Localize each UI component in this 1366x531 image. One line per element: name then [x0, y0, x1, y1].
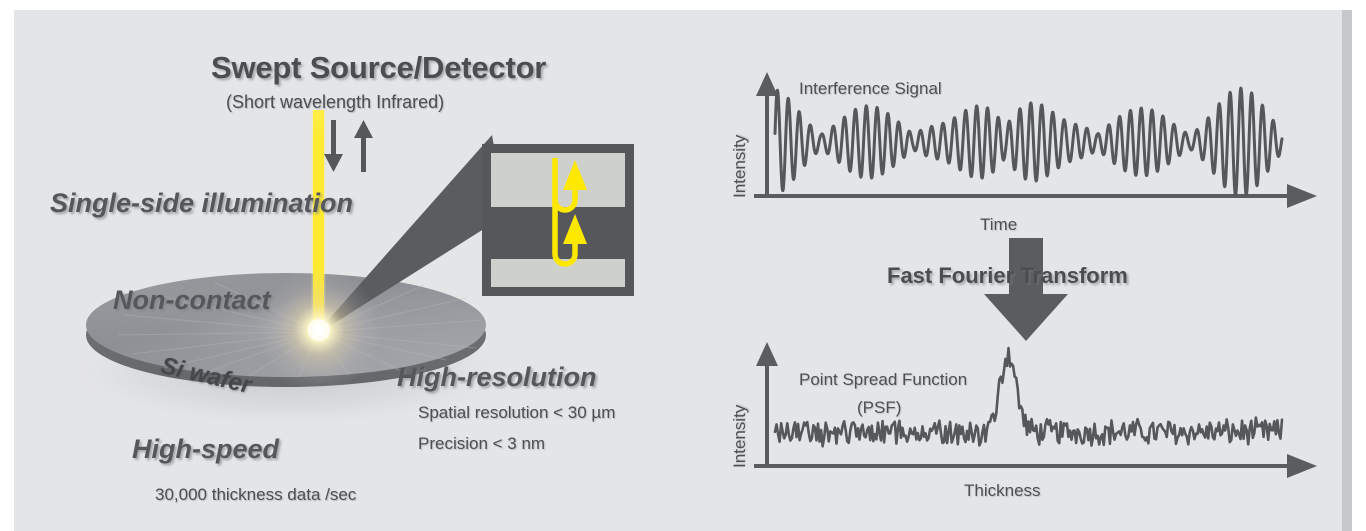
interference-waveform — [775, 88, 1282, 195]
fft-arrow — [976, 238, 1076, 342]
feature-title-3: High-speed — [132, 434, 279, 465]
reflected-beam-arrow — [354, 120, 373, 172]
feature-title-1: Non-contact — [113, 285, 271, 316]
inset-middle-layer — [491, 207, 625, 259]
interference-x-label: Time — [980, 215, 1017, 235]
interference-signal-plot — [749, 70, 1329, 215]
diagram-panel: Swept Source/Detector (Short wavelength … — [14, 10, 1352, 531]
feature-title-2: High-resolution — [397, 362, 596, 393]
psf-waveform — [775, 348, 1282, 446]
psf-plot — [749, 340, 1329, 485]
psf-y-label: Intensity — [730, 405, 750, 468]
feature-detail-2-0: Spatial resolution < 30 µm — [418, 403, 615, 423]
layer-cross-section-inset — [482, 144, 634, 296]
feature-detail-3-0: 30,000 thickness data /sec — [155, 485, 356, 505]
incident-beam-arrow — [324, 120, 343, 172]
source-title: Swept Source/Detector — [211, 50, 546, 86]
interference-y-label: Intensity — [730, 135, 750, 198]
fft-label: Fast Fourier Transform — [887, 263, 1128, 289]
feature-detail-2-1: Precision < 3 nm — [418, 434, 545, 454]
beam-direction-arrows — [317, 120, 397, 180]
feature-title-0: Single-side illumination — [50, 188, 353, 219]
